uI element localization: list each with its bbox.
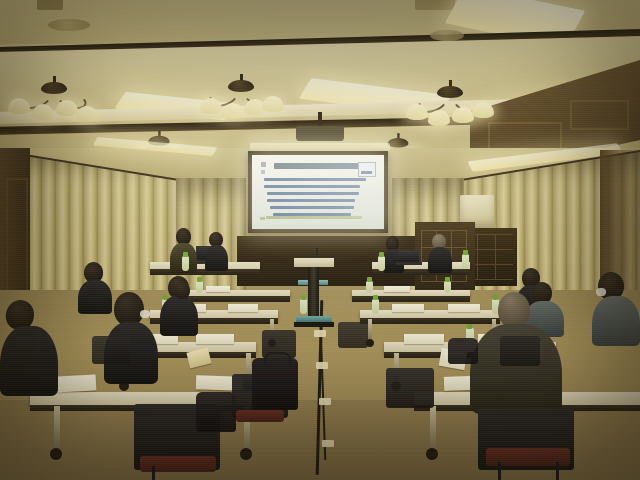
ceiling-vent-icon [37, 0, 63, 10]
bag[interactable] [196, 392, 236, 432]
lectern-column [308, 267, 319, 317]
water-bottle[interactable] [372, 299, 379, 314]
water-bottle[interactable] [444, 281, 451, 293]
slide-logo-icon [358, 162, 376, 177]
water-bottle[interactable] [182, 256, 189, 271]
face-mask-icon [596, 288, 606, 296]
slide-bullet-icon [260, 217, 265, 220]
document-paper [206, 286, 230, 292]
center-lectern [292, 258, 336, 328]
chair[interactable] [92, 336, 130, 364]
chandelier-left [14, 76, 94, 116]
water-bottle[interactable] [462, 254, 469, 269]
presentation-slide [256, 158, 380, 226]
slide-footer-text [266, 216, 362, 219]
document-paper [228, 304, 258, 312]
cable-tape [314, 330, 326, 337]
cable-tape [316, 362, 328, 369]
water-bottle[interactable] [196, 281, 203, 293]
chandelier-right [408, 80, 492, 120]
slide-marker-icon [261, 170, 265, 174]
chair[interactable] [500, 336, 540, 366]
ceiling-projector [296, 126, 344, 141]
slide-marker-icon [261, 162, 266, 167]
slide-title-text [274, 163, 362, 169]
bag[interactable] [448, 338, 478, 364]
document-paper [196, 334, 234, 344]
fluorescent-light-panel [250, 143, 390, 151]
cable-tape [322, 440, 334, 447]
chair-seat[interactable] [236, 410, 284, 422]
lectern-top [294, 258, 334, 267]
chair[interactable] [338, 322, 368, 348]
water-bottle[interactable] [378, 256, 385, 271]
water-bottle[interactable] [366, 281, 373, 293]
face-mask-icon [140, 310, 150, 318]
lectern-foot [294, 322, 334, 327]
chandelier-center-left [200, 74, 282, 114]
water-bottle[interactable] [300, 299, 307, 314]
document-paper [448, 304, 480, 312]
ceiling-vent-icon [430, 30, 464, 41]
chair[interactable] [386, 368, 434, 408]
document-paper [404, 334, 444, 344]
cable-tape [319, 398, 331, 405]
ceiling-vent-icon [48, 19, 90, 31]
conference-room-photo [0, 0, 640, 480]
ceiling-vent-icon [415, 0, 455, 10]
document-paper [384, 286, 410, 292]
staff-laptop[interactable] [396, 250, 420, 265]
document-paper [392, 304, 424, 312]
backpack[interactable] [252, 358, 298, 410]
